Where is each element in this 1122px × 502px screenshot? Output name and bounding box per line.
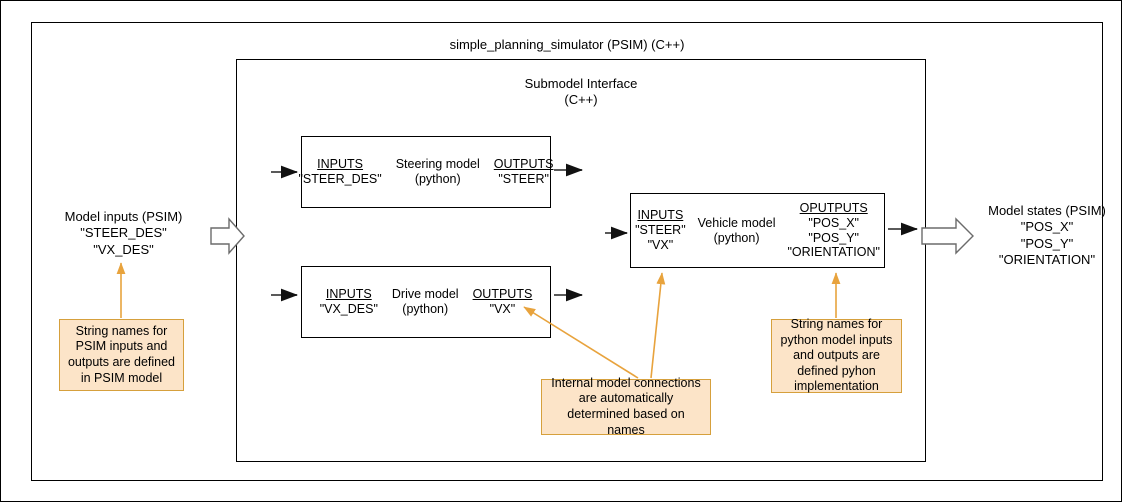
vehicle-model-output-value-2: "POS_Y" (808, 231, 859, 246)
vehicle-model-outputs-title: OPUTPUTS (800, 201, 868, 216)
steering-model-inputs-title: INPUTS (317, 157, 363, 172)
note-internal-connections-text: Internal model connections are automatic… (547, 376, 705, 439)
vehicle-model-name: Vehicle model (python) (698, 216, 776, 246)
submodel-interface-title-line1: Submodel Interface (431, 76, 731, 92)
drive-model-inputs-title: INPUTS (326, 287, 372, 302)
submodel-interface-title-line2: (C++) (431, 92, 731, 108)
psim-frame-title-text: simple_planning_simulator (PSIM) (C++) (450, 37, 685, 52)
steering-model-input-value: "STEER_DES" (299, 172, 382, 187)
steering-model-outputs: OUTPUTS "STEER" (494, 157, 554, 187)
vehicle-model-output-value-3: "ORIENTATION" (787, 245, 879, 260)
model-states-label-line2: "POS_X" (977, 219, 1117, 235)
vehicle-model-name-line2: (python) (714, 231, 760, 246)
model-inputs-label-line3: "VX_DES" (41, 242, 206, 258)
drive-model-name: Drive model (python) (392, 287, 459, 317)
steering-model-name-line1: Steering model (396, 157, 480, 172)
psim-frame-title: simple_planning_simulator (PSIM) (C++) (367, 37, 767, 53)
model-states-label-line3: "POS_Y" (977, 236, 1117, 252)
drive-model-inputs: INPUTS "VX_DES" (320, 287, 378, 317)
model-states-label: Model states (PSIM) "POS_X" "POS_Y" "ORI… (977, 203, 1117, 268)
note-psim-names: String names for PSIM inputs and outputs… (59, 319, 184, 391)
vehicle-model-outputs: OPUTPUTS "POS_X" "POS_Y" "ORIENTATION" (787, 201, 879, 260)
drive-model-name-line2: (python) (402, 302, 448, 317)
note-python-names-text: String names for python model inputs and… (777, 317, 896, 395)
steering-model-name-line2: (python) (415, 172, 461, 187)
vehicle-model-name-line1: Vehicle model (698, 216, 776, 231)
vehicle-model-inputs: INPUTS "STEER" "VX" (635, 208, 686, 252)
model-states-label-line4: "ORIENTATION" (977, 252, 1117, 268)
note-internal-connections: Internal model connections are automatic… (541, 379, 711, 435)
drive-model-box[interactable]: INPUTS "VX_DES" Drive model (python) OUT… (301, 266, 551, 338)
model-inputs-label: Model inputs (PSIM) "STEER_DES" "VX_DES" (41, 209, 206, 258)
drive-model-name-line1: Drive model (392, 287, 459, 302)
steering-model-box[interactable]: INPUTS "STEER_DES" Steering model (pytho… (301, 136, 551, 208)
model-inputs-label-line2: "STEER_DES" (41, 225, 206, 241)
drive-model-outputs-title: OUTPUTS (473, 287, 533, 302)
model-inputs-label-line1: Model inputs (PSIM) (41, 209, 206, 225)
vehicle-model-output-value-1: "POS_X" (808, 216, 859, 231)
vehicle-model-box[interactable]: INPUTS "STEER" "VX" Vehicle model (pytho… (630, 193, 885, 268)
note-psim-names-text: String names for PSIM inputs and outputs… (65, 324, 178, 387)
steering-model-outputs-title: OUTPUTS (494, 157, 554, 172)
model-states-label-line1: Model states (PSIM) (977, 203, 1117, 219)
diagram-canvas: simple_planning_simulator (PSIM) (C++) S… (0, 0, 1122, 502)
vehicle-model-input-value-1: "STEER" (635, 223, 686, 238)
submodel-interface-title: Submodel Interface (C++) (431, 76, 731, 107)
vehicle-model-input-value-2: "VX" (648, 238, 674, 253)
steering-model-name: Steering model (python) (396, 157, 480, 187)
drive-model-outputs: OUTPUTS "VX" (473, 287, 533, 317)
vehicle-model-inputs-title: INPUTS (637, 208, 683, 223)
steering-model-output-value: "STEER" (498, 172, 549, 187)
drive-model-input-value: "VX_DES" (320, 302, 378, 317)
note-python-names: String names for python model inputs and… (771, 319, 902, 393)
steering-model-inputs: INPUTS "STEER_DES" (299, 157, 382, 187)
drive-model-output-value: "VX" (490, 302, 516, 317)
